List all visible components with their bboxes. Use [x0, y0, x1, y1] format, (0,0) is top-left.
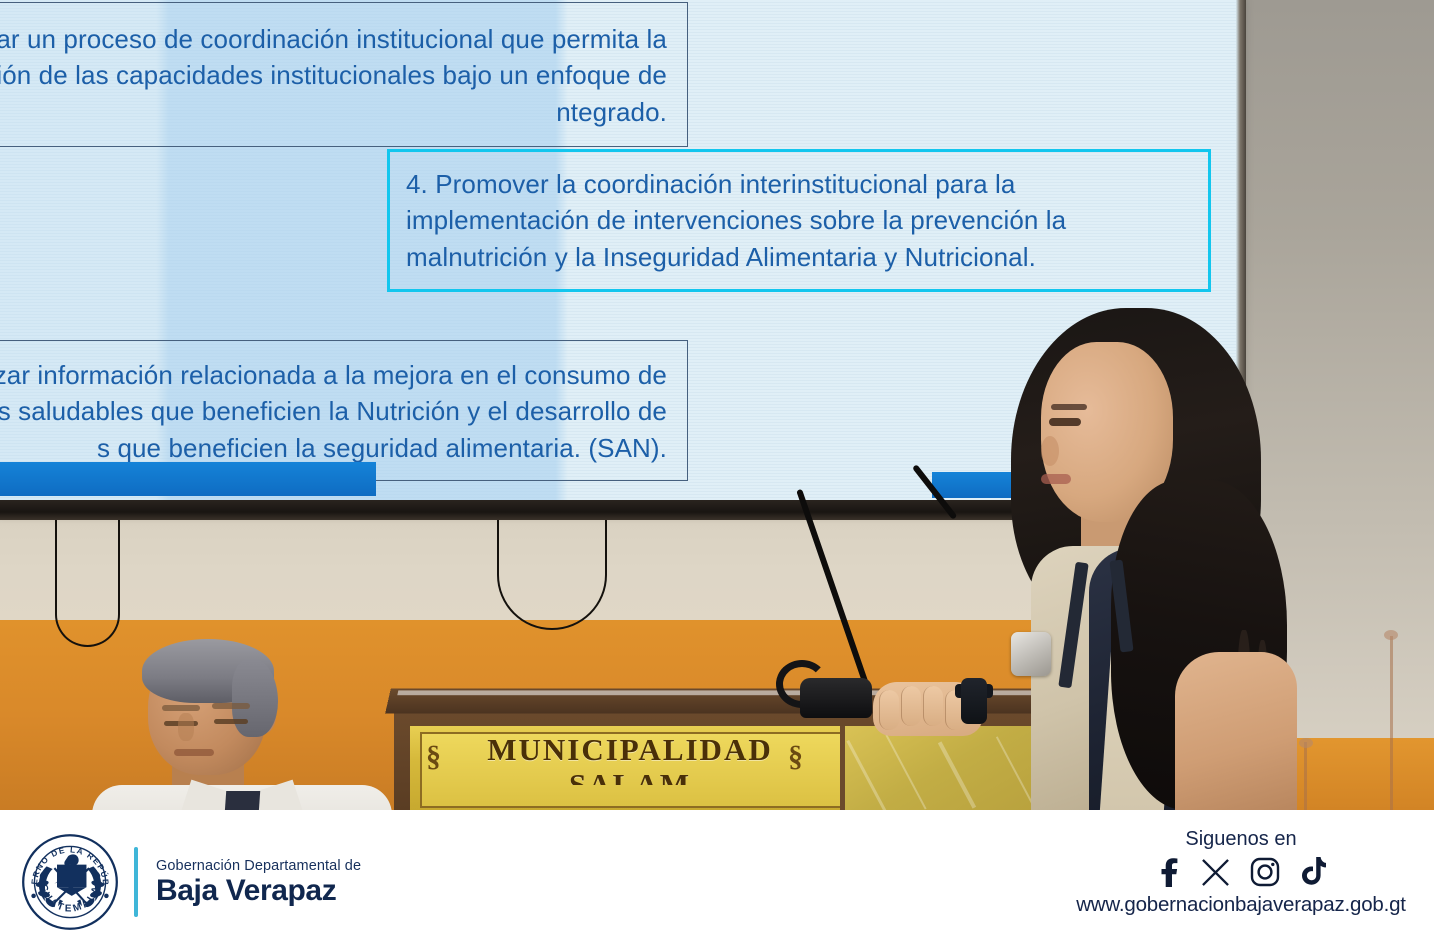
- slide-text-block-2: 4. Promover la coordinación interinstitu…: [387, 149, 1211, 292]
- brand-text: Gobernación Departamental de Baja Verapa…: [156, 858, 361, 907]
- woman-finger-3: [923, 686, 943, 726]
- seated-man: [120, 645, 360, 810]
- x-twitter-icon[interactable]: [1201, 858, 1230, 887]
- podium-sign: MUNICIPALIDAD SALAM: [420, 734, 840, 785]
- glass-streak-3: [938, 741, 976, 808]
- woman-eye: [1049, 418, 1081, 426]
- wall-drip-2: [1390, 636, 1393, 810]
- social-icon-row: [1156, 857, 1326, 887]
- man-brow-right: [212, 703, 250, 709]
- woman-nose: [1041, 436, 1059, 466]
- brand-divider: [134, 847, 138, 917]
- glass-streak-2: [885, 734, 926, 809]
- microphone-base: [800, 678, 872, 718]
- guatemala-emblem-icon: GOBIERNO DE LA REPÚBLICA GUATEMALA: [18, 830, 122, 934]
- speaker-woman: [985, 300, 1325, 810]
- woman-lips: [1041, 474, 1071, 484]
- event-photo: rollar un proceso de coordinación instit…: [0, 0, 1434, 810]
- woman-eyebrow: [1051, 404, 1087, 410]
- woman-finger-2: [901, 686, 921, 726]
- slide-b1-line-1: rollar un proceso de coordinación instit…: [0, 21, 673, 57]
- brand-title: Baja Verapaz: [156, 876, 361, 907]
- slide-b1-line-3: ntegrado.: [0, 94, 673, 130]
- man-tie: [222, 791, 260, 810]
- slide-b2-line-2: implementación de intervenciones sobre l…: [406, 202, 1190, 238]
- slide-b3-line-3: s que beneficien la seguridad alimentari…: [0, 430, 673, 466]
- glass-streak-1: [846, 740, 886, 810]
- man-mouth: [174, 749, 214, 756]
- podium-sign-line-2: SALAM: [420, 769, 840, 785]
- woman-arm: [1175, 652, 1297, 810]
- man-brow-left: [162, 705, 200, 711]
- slide-accent-bar-left: [0, 462, 376, 496]
- slide-b3-line-2: s saludables que beneficien la Nutrición…: [0, 393, 673, 429]
- slide-b2-line-3: malnutrición y la Inseguridad Alimentari…: [406, 239, 1190, 275]
- tiktok-icon[interactable]: [1300, 857, 1326, 887]
- woman-wristwatch: [961, 678, 987, 724]
- footer-bar: GOBIERNO DE LA REPÚBLICA GUATEMALA: [0, 810, 1434, 940]
- slide-text-block-3: alizar información relacionada a la mejo…: [0, 340, 688, 481]
- hanging-cable-2: [497, 512, 607, 630]
- slide-text-block-1: rollar un proceso de coordinación instit…: [0, 2, 688, 147]
- website-url[interactable]: www.gobernacionbajaverapaz.gob.gt: [1076, 893, 1406, 917]
- facebook-icon[interactable]: [1156, 857, 1181, 887]
- poster-page: rollar un proceso de coordinación instit…: [0, 0, 1434, 940]
- instagram-icon[interactable]: [1250, 857, 1280, 887]
- slide-b3-line-1: alizar información relacionada a la mejo…: [0, 357, 673, 393]
- slide-b1-line-2: ción de las capacidades institucionales …: [0, 57, 673, 93]
- man-eye-right: [214, 719, 248, 724]
- social-title: Siguenos en: [1185, 828, 1296, 851]
- woman-finger-1: [879, 690, 899, 730]
- woman-id-badge: [1011, 632, 1051, 676]
- brand-subtitle: Gobernación Departamental de: [156, 858, 361, 874]
- social-block: Siguenos en: [1086, 828, 1396, 917]
- man-nose: [178, 713, 194, 741]
- podium-sign-line-1: MUNICIPALIDAD: [420, 734, 840, 766]
- brand-lockup: GOBIERNO DE LA REPÚBLICA GUATEMALA: [18, 830, 361, 934]
- slide-b2-line-1: 4. Promover la coordinación interinstitu…: [406, 166, 1190, 202]
- wall-drip-head-2: [1384, 630, 1398, 640]
- hanging-cable-1: [55, 512, 120, 647]
